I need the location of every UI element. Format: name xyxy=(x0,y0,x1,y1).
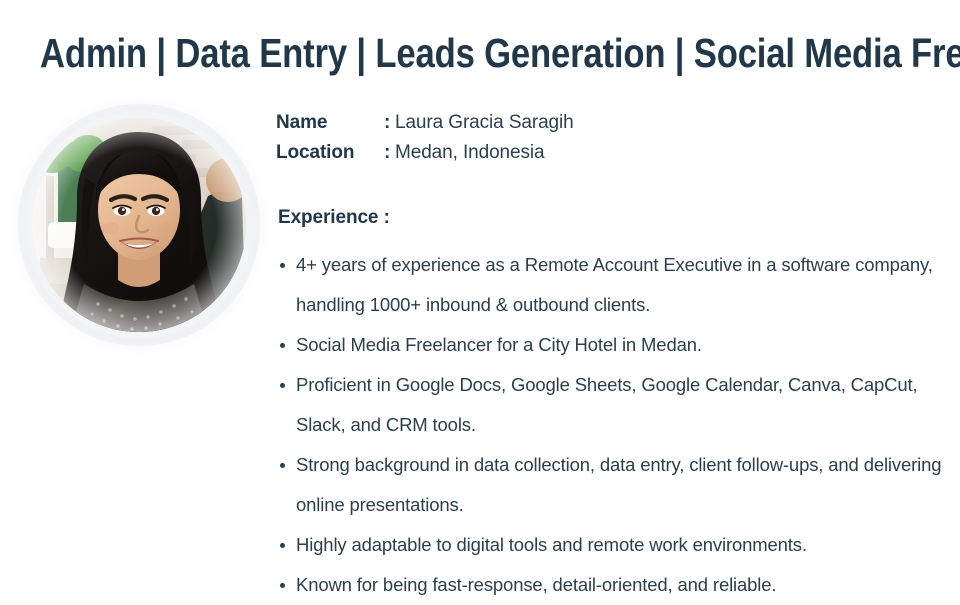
field-name-label: Name xyxy=(276,112,384,134)
field-name-value: Laura Gracia Saragih xyxy=(395,112,574,134)
list-item: 4+ years of experience as a Remote Accou… xyxy=(278,245,950,325)
list-item: Social Media Freelancer for a City Hotel… xyxy=(278,325,950,365)
profile-fields: Name : Laura Gracia Saragih Location : M… xyxy=(276,112,836,172)
avatar-photo xyxy=(32,118,246,332)
list-item: Known for being fast-response, detail-or… xyxy=(278,565,950,605)
field-location: Location : Medan, Indonesia xyxy=(276,142,836,172)
page-title: Admin | Data Entry | Leads Generation | … xyxy=(40,28,792,78)
experience-list: 4+ years of experience as a Remote Accou… xyxy=(278,245,950,605)
field-location-label: Location xyxy=(276,142,384,164)
field-name-separator: : xyxy=(384,112,395,134)
list-item: Highly adaptable to digital tools and re… xyxy=(278,525,950,565)
experience-heading: Experience : xyxy=(278,207,390,229)
field-name: Name : Laura Gracia Saragih xyxy=(276,112,836,142)
field-location-value: Medan, Indonesia xyxy=(395,142,544,164)
list-item: Proficient in Google Docs, Google Sheets… xyxy=(278,365,950,445)
profile-card: Admin | Data Entry | Leads Generation | … xyxy=(0,0,960,540)
list-item: Strong background in data collection, da… xyxy=(278,445,950,525)
avatar xyxy=(18,104,260,346)
field-location-separator: : xyxy=(384,142,395,164)
